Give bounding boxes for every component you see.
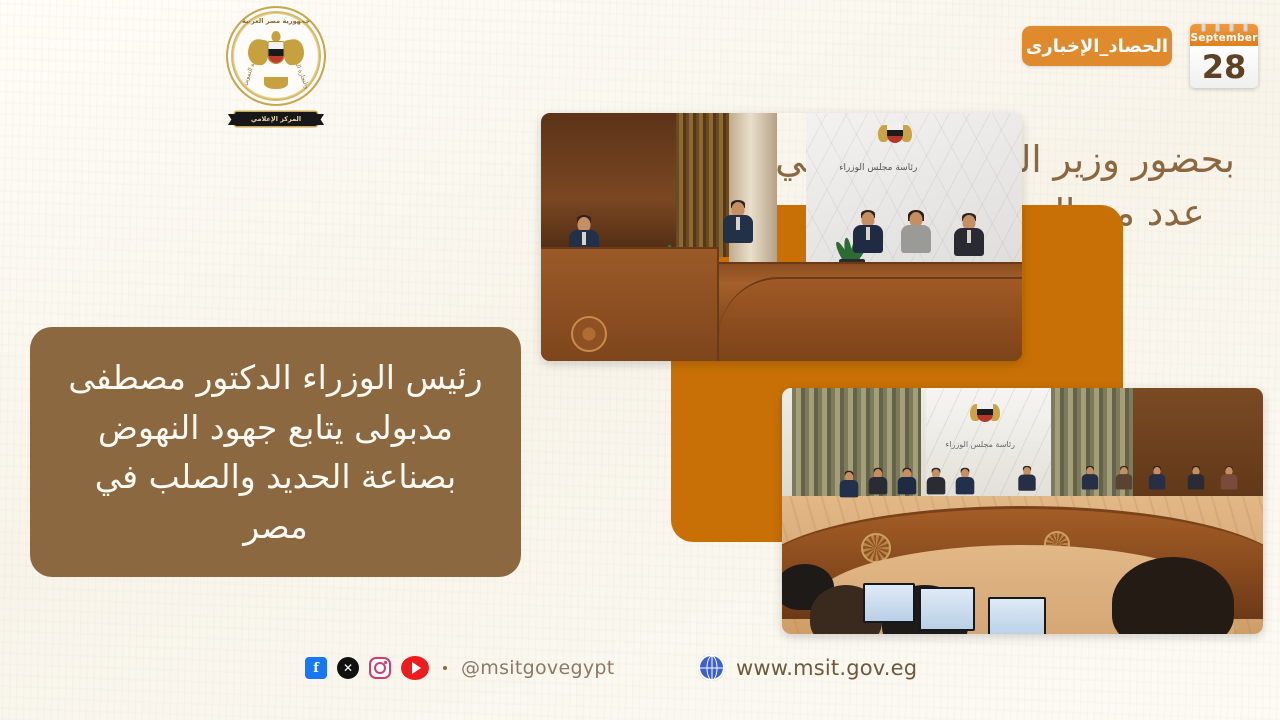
separator-dot: [443, 666, 447, 670]
photo-cabinet-wide: رئاسة مجلس الوزراء: [782, 388, 1263, 634]
ministry-logo: جمهورية مصر العربية وزارة التموين والتجا…: [215, 4, 337, 128]
logo-arabic-left-text: وزارة التموين: [241, 53, 260, 87]
calendar-day: 28: [1190, 46, 1258, 88]
footer-bar: f ✕ @msitgovegypt www.msit.gov.eg: [0, 650, 1280, 710]
calendar-rings: [1190, 24, 1258, 31]
photo-cabinet-head: رئاسة مجلس الوزراء: [541, 113, 1022, 361]
youtube-icon[interactable]: [401, 656, 429, 680]
x-twitter-icon[interactable]: ✕: [337, 657, 359, 679]
logo-banner-text: المركز الإعلامي: [235, 112, 317, 126]
facebook-icon[interactable]: f: [305, 657, 327, 679]
photo1-wall-text: رئاسة مجلس الوزراء: [839, 163, 917, 173]
instagram-icon[interactable]: [369, 657, 391, 679]
egypt-eagle-icon: [970, 398, 1000, 436]
photo2-wall-text: رئاسة مجلس الوزراء: [946, 440, 1015, 449]
website-group[interactable]: www.msit.gov.eg: [698, 654, 917, 681]
logo-ring: جمهورية مصر العربية وزارة التموين والتجا…: [226, 6, 326, 106]
globe-icon: [698, 654, 725, 681]
photo-cabinet-head-scene: رئاسة مجلس الوزراء: [541, 113, 1022, 361]
hashtag-badge[interactable]: الحصاد_الإخبارى: [1022, 26, 1172, 66]
caption-box: رئيس الوزراء الدكتور مصطفى مدبولى يتابع …: [30, 327, 521, 577]
caption-text: رئيس الوزراء الدكتور مصطفى مدبولى يتابع …: [60, 353, 491, 551]
social-links-group: f ✕ @msitgovegypt: [305, 656, 614, 680]
calendar-icon: September 28: [1190, 24, 1258, 88]
social-handle[interactable]: @msitgovegypt: [461, 657, 614, 679]
website-url[interactable]: www.msit.gov.eg: [736, 656, 917, 680]
egypt-eagle-icon: [878, 119, 912, 161]
photo-cabinet-wide-scene: رئاسة مجلس الوزراء: [782, 388, 1263, 634]
eagle-of-saladin-icon: [248, 31, 304, 87]
logo-arabic-top-text: جمهورية مصر العربية: [242, 17, 310, 25]
logo-arabic-right-text: والتجارة الداخلية: [289, 49, 311, 90]
